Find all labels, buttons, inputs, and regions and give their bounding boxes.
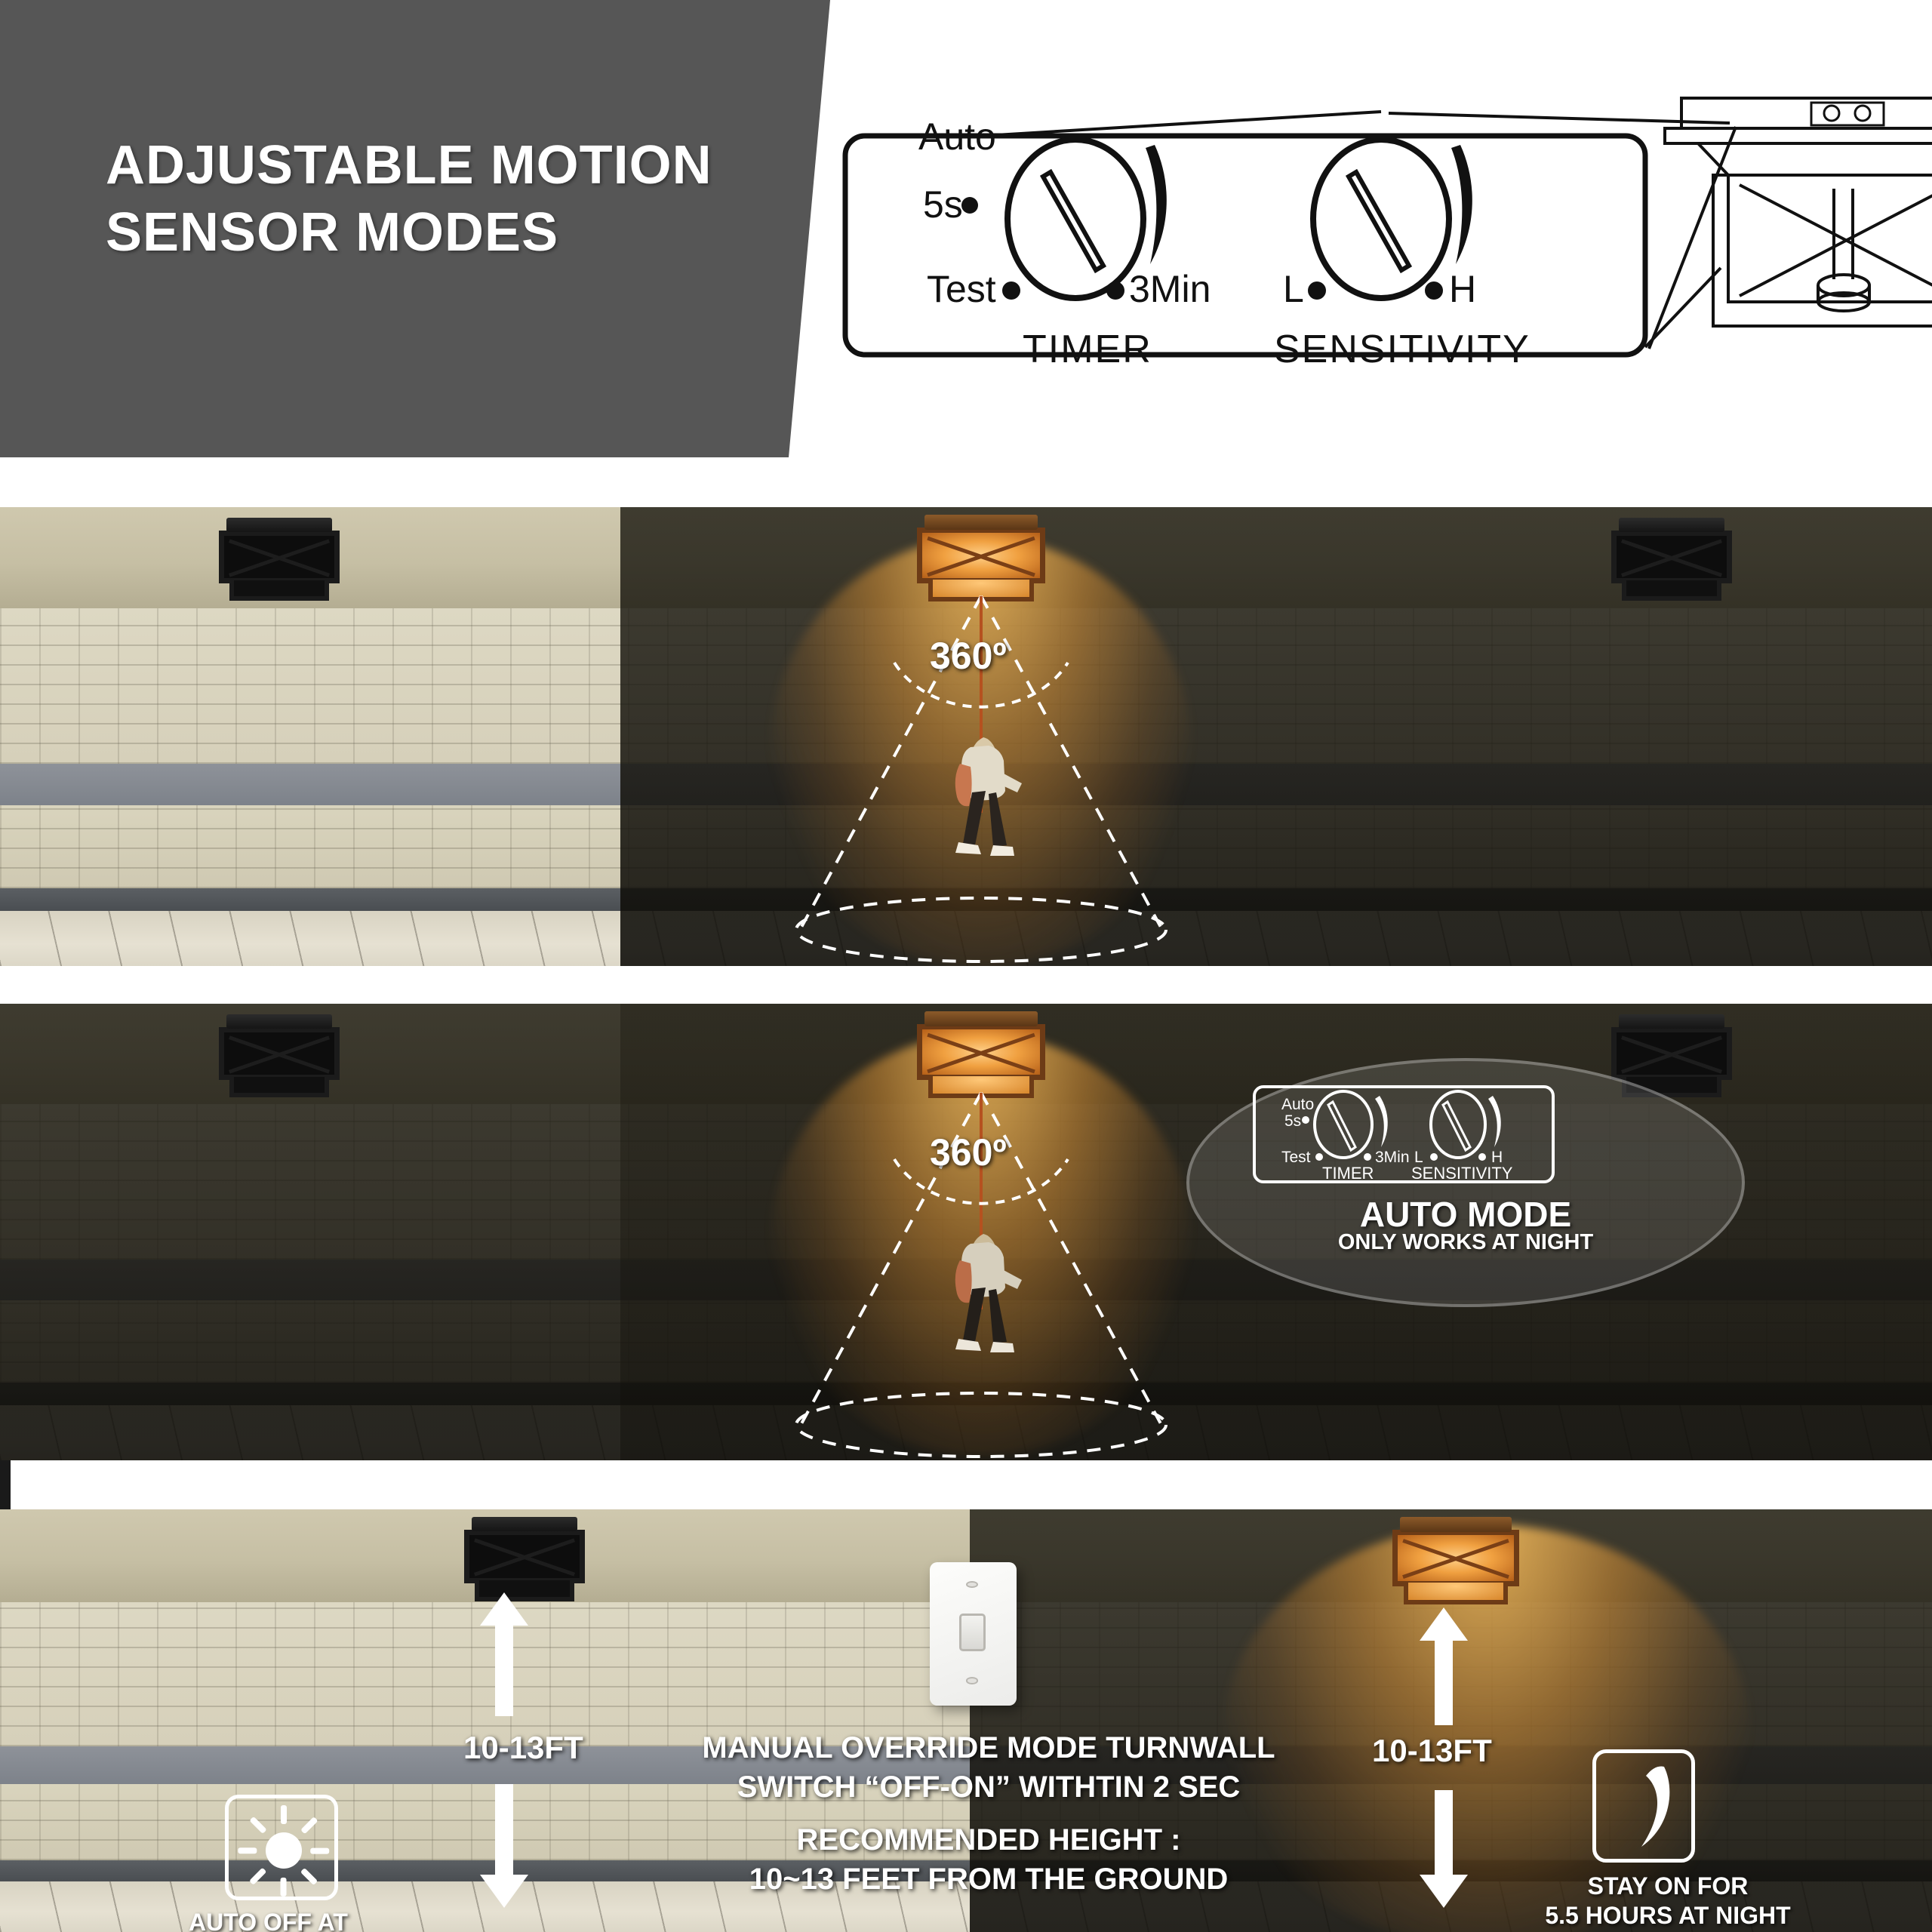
timer-3min-dot: [1106, 281, 1124, 300]
ovl2-timer: TIMER: [1322, 1164, 1374, 1183]
timer-title: TIMER: [1023, 328, 1152, 371]
height-line2: 10~13 FEET FROM THE GROUND: [702, 1860, 1275, 1899]
switch-toggle[interactable]: [959, 1614, 986, 1651]
sensitivity-high-dot: [1425, 281, 1443, 300]
sensitivity-low-dot: [1308, 281, 1326, 300]
ovl2-3min: 3Min: [1375, 1149, 1410, 1166]
timer-test-dot: [1002, 281, 1020, 300]
ovl2-sens: SENSITIVITY: [1411, 1164, 1513, 1183]
detection-ellipse-1: [796, 898, 1166, 961]
detection-overlay-1: [0, 507, 1932, 966]
sensitivity-low-label: L: [1283, 268, 1304, 310]
page-title-line2: SENSOR MODES: [106, 199, 770, 266]
diagram-svg: Auto 5s Test 3Min TIMER L H SENSITIVITY: [830, 0, 1932, 457]
infographic-root: ADJUSTABLE MOTION SENSOR MODES: [0, 0, 1932, 1932]
timer-3min-label: 3Min: [1129, 268, 1211, 310]
ovl2-auto: Auto: [1281, 1096, 1314, 1113]
recommended-height-text: RECOMMENDED HEIGHT : 10~13 FEET FROM THE…: [702, 1820, 1275, 1899]
panel-test-mode: Auto 5s Test 3Min TIMER L H SENSITIVITY …: [0, 507, 1932, 966]
product-diagram: Auto 5s Test 3Min TIMER L H SENSITIVITY: [830, 0, 1932, 457]
sun-icon: [236, 1803, 331, 1898]
product-line-drawing: [1665, 98, 1932, 326]
night-caption-3: STAY ON FOR 5.5 HOURS AT NIGHT: [1502, 1872, 1834, 1930]
sensor-panel-enlarged: Auto 5s Test 3Min TIMER L H SENSITIVITY: [845, 115, 1645, 371]
timer-5s-dot: [961, 197, 978, 214]
person-silhouette-1: [955, 737, 1022, 856]
timer-5s-label: 5s: [923, 183, 963, 226]
wall-switch[interactable]: [930, 1562, 1017, 1706]
sensitivity-title: SENSITIVITY: [1274, 328, 1531, 371]
header-section: ADJUSTABLE MOTION SENSOR MODES: [0, 0, 1932, 457]
height-line1: RECOMMENDED HEIGHT :: [702, 1820, 1275, 1860]
height-label-right: 10-13FT: [1372, 1733, 1492, 1769]
sensitivity-high-label: H: [1449, 268, 1476, 310]
page-title: ADJUSTABLE MOTION SENSOR MODES: [106, 132, 770, 266]
detection-ellipse-2: [796, 1393, 1166, 1457]
mode-title-2: AUTO MODE: [1186, 1194, 1745, 1235]
ceiling-lamp-off-left-3: [464, 1517, 585, 1601]
mode-subtitle-2: ONLY WORKS AT NIGHT: [1186, 1230, 1745, 1255]
day-caption-3: AUTO OFF AT DAY: [189, 1908, 392, 1932]
angle-label-2: 360º: [930, 1131, 1007, 1174]
moon-icon: [1613, 1764, 1681, 1853]
day-icon-frame-3: [225, 1795, 338, 1900]
timer-test-label: Test: [927, 268, 996, 310]
sun-disc: [266, 1832, 302, 1869]
panel-manual-override: 10-13FT 10-13FT MANUAL OVERRIDE MODE TUR…: [0, 1509, 1932, 1932]
control-panel-overlay-2: Auto 5s Test 3Min TIMER L H SENSITIVITY: [1253, 1085, 1555, 1183]
panel-auto-mode: Auto 5s Test 3Min TIMER L H SENSITIVITY …: [0, 1004, 1932, 1460]
height-label-left: 10-13FT: [463, 1730, 583, 1766]
switch-screw-top: [966, 1581, 978, 1589]
override-line2: SWITCH “OFF-ON” WITHTIN 2 SEC: [702, 1767, 1275, 1807]
override-text: MANUAL OVERRIDE MODE TURNWALL SWITCH “OF…: [702, 1728, 1275, 1807]
night-icon-frame-3: [1592, 1749, 1695, 1863]
switch-screw-bottom: [966, 1677, 978, 1684]
angle-label-1: 360º: [930, 634, 1007, 678]
ovl2-5s: 5s: [1284, 1112, 1301, 1130]
person-silhouette-2: [955, 1234, 1022, 1352]
ovl2-test: Test: [1281, 1149, 1311, 1166]
night-caption-3-l2: 5.5 HOURS AT NIGHT: [1502, 1901, 1834, 1930]
timer-auto-label: Auto: [918, 115, 996, 158]
night-caption-3-l1: STAY ON FOR: [1502, 1872, 1834, 1901]
override-line1: MANUAL OVERRIDE MODE TURNWALL: [702, 1728, 1275, 1767]
ceiling-lamp-on-right-3: [1392, 1517, 1519, 1604]
page-title-line1: ADJUSTABLE MOTION: [106, 132, 770, 199]
